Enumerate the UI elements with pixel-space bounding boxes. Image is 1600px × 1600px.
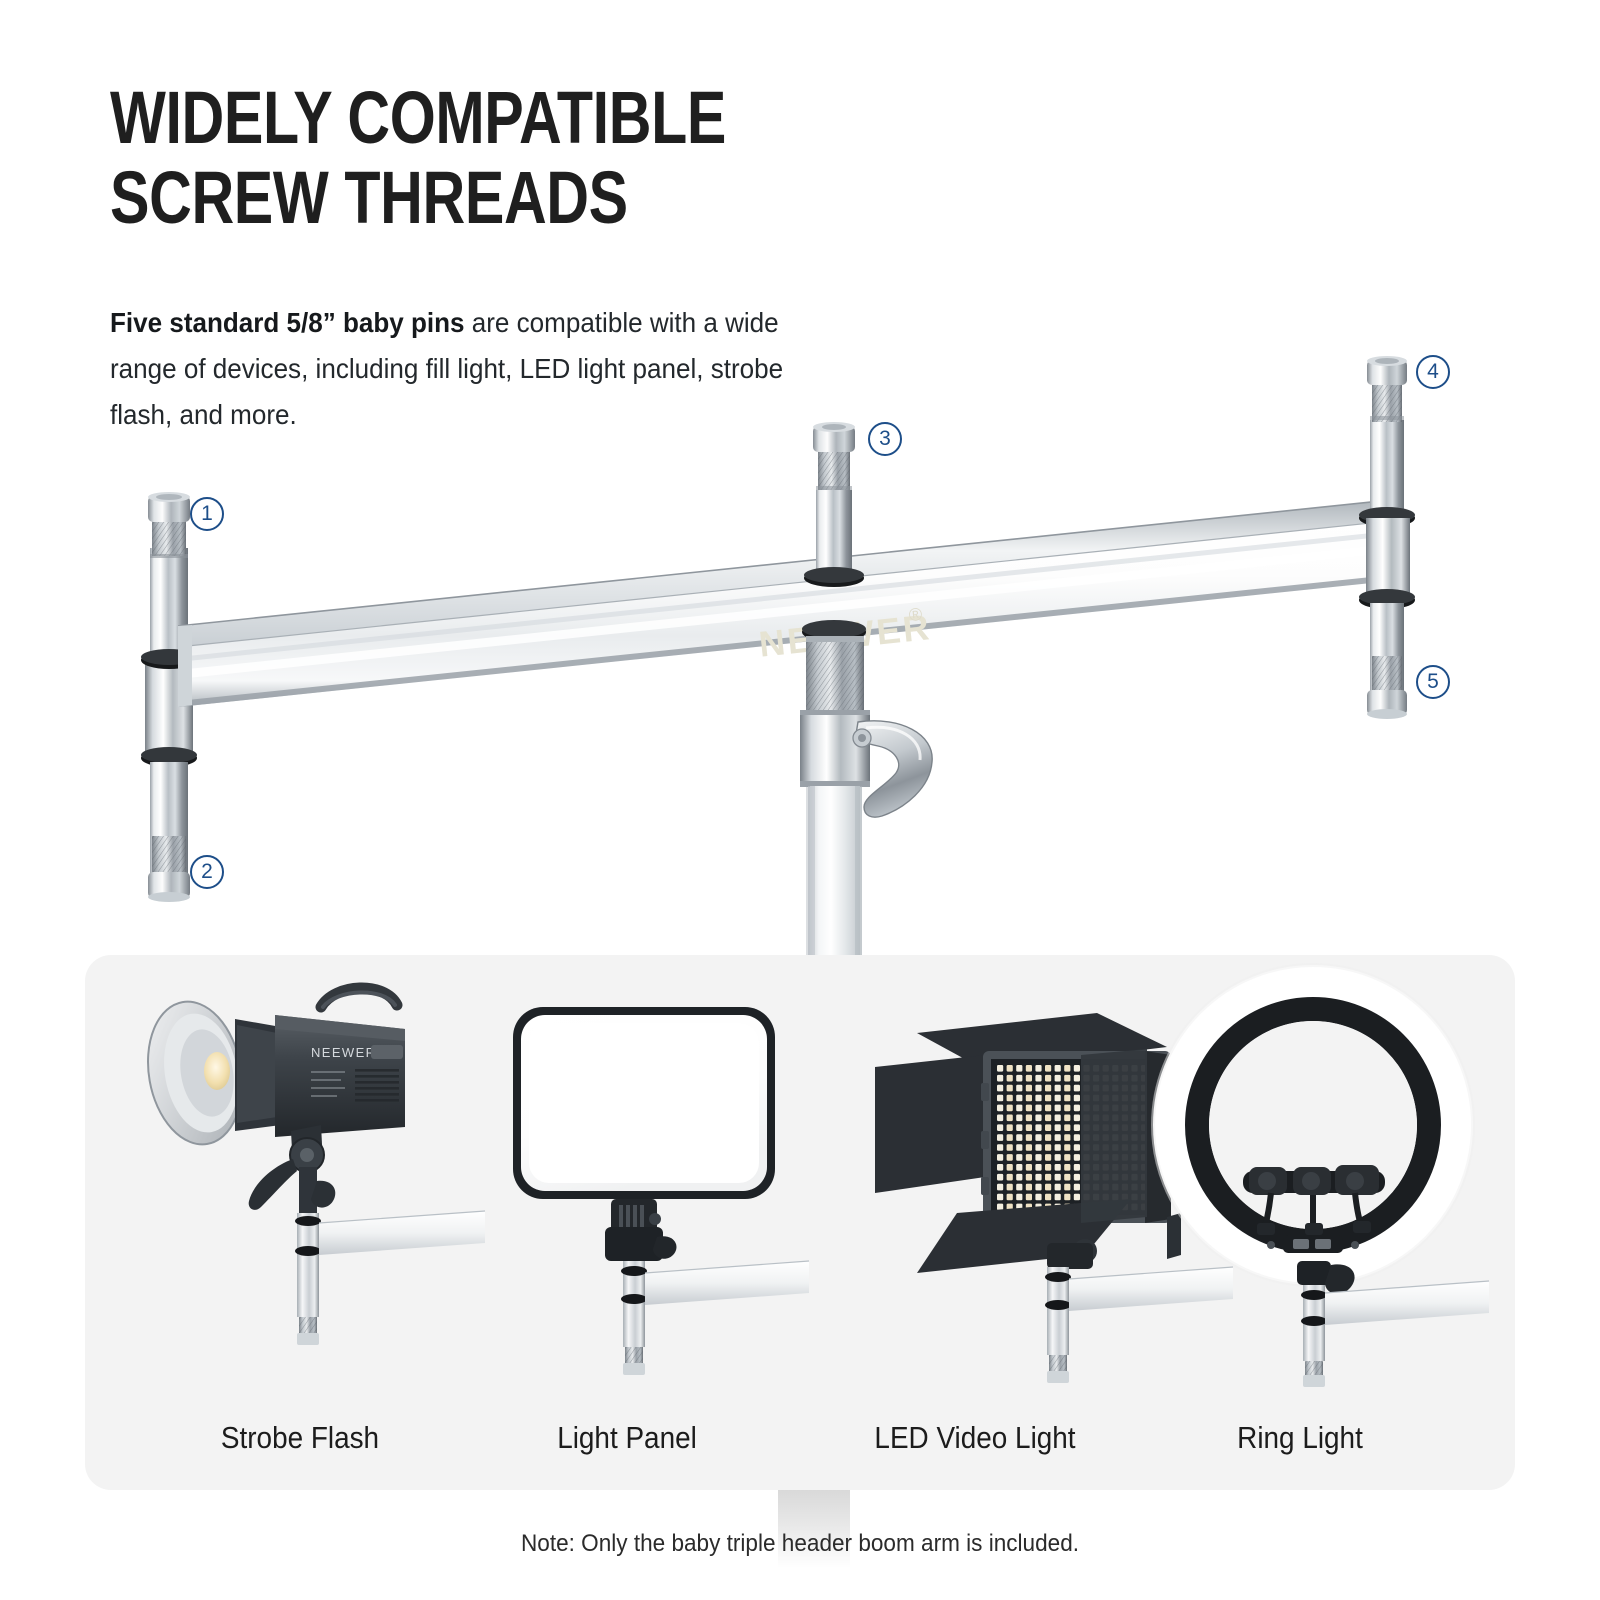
product-label-ring-light: Ring Light <box>1165 1420 1435 1456</box>
boom-arm-illustration: NEEWER ® <box>0 330 1600 990</box>
callout-badge-2: 2 <box>190 855 224 889</box>
page-title: WIDELY COMPATIBLE SCREW THREADS <box>110 78 830 238</box>
product-label-light-panel: Light Panel <box>492 1420 762 1456</box>
device-light-panel <box>513 1007 809 1375</box>
callout-badge-1: 1 <box>190 497 224 531</box>
callout-badge-4: 4 <box>1416 355 1450 389</box>
boom-arm-bar: NEEWER ® <box>178 499 1400 707</box>
product-label-strobe-flash: Strobe Flash <box>165 1420 435 1456</box>
strobe-brand-text: NEEWER <box>311 1045 376 1060</box>
callout-badge-3: 3 <box>868 422 902 456</box>
infographic-canvas: WIDELY COMPATIBLE SCREW THREADS Five sta… <box>0 0 1600 1600</box>
device-ring-light <box>1153 965 1489 1387</box>
baby-pin-right <box>1359 356 1415 719</box>
center-clamp-assembly <box>800 620 932 990</box>
product-label-led-video-light: LED Video Light <box>840 1420 1110 1456</box>
callout-badge-5: 5 <box>1416 665 1450 699</box>
footnote: Note: Only the baby triple header boom a… <box>48 1530 1552 1558</box>
compatible-devices-illustrations: NEEWER <box>85 955 1515 1490</box>
registered-mark: ® <box>908 604 923 625</box>
device-strobe-flash: NEEWER <box>137 988 485 1345</box>
